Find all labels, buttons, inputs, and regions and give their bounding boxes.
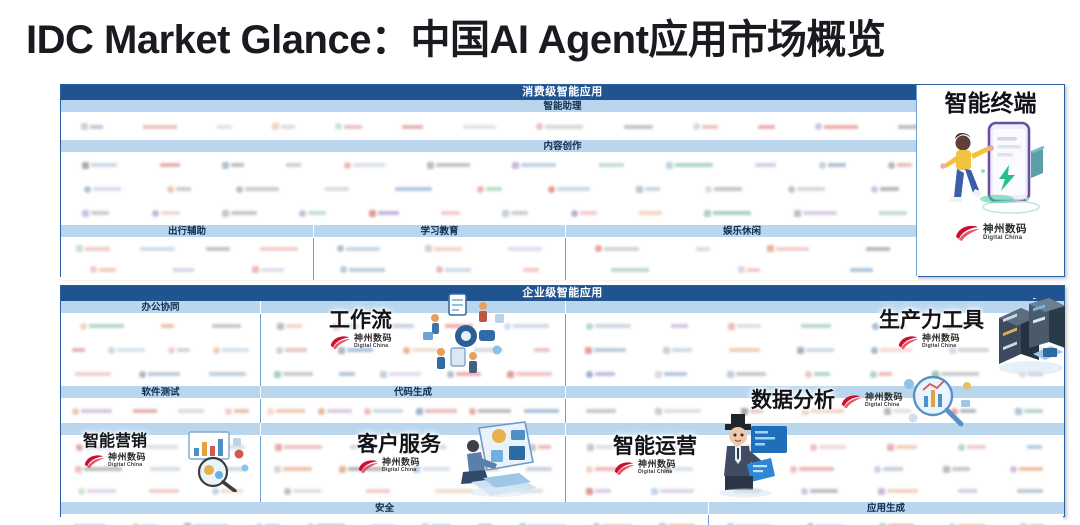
- vendor-logo: [75, 372, 111, 376]
- column-header-education: 学习教育: [314, 225, 566, 238]
- vendor-logo: [666, 445, 693, 449]
- logo-row: [61, 177, 1064, 201]
- column-office-collab: [61, 314, 261, 386]
- vendor-logo: [213, 347, 249, 354]
- vendor-logo: [366, 489, 390, 493]
- vendor-logo: [217, 125, 232, 129]
- vendor-logo: [571, 210, 597, 217]
- column-education: [314, 238, 566, 280]
- vendor-logo: [72, 348, 85, 352]
- vendor-logo: [222, 210, 257, 217]
- vendor-logo: [173, 268, 194, 272]
- column-travel: [61, 238, 314, 280]
- vendor-logo: [526, 467, 552, 471]
- vendor-logo: [160, 163, 180, 167]
- page-title: IDC Market Glance：中国AI Agent应用市场概览: [26, 16, 885, 64]
- vendor-logo: [801, 324, 831, 328]
- vendor-logo: [337, 245, 380, 252]
- vendor-logo: [802, 408, 844, 415]
- vendor-logo: [655, 371, 687, 378]
- column-header-office-collab: 办公协同: [61, 301, 261, 314]
- column-workflow: [261, 314, 566, 386]
- vendor-logo: [344, 162, 385, 169]
- vendor-logo: [445, 324, 473, 328]
- vendor-logo: [276, 347, 307, 354]
- vendor-logo: [75, 466, 122, 473]
- vendor-logo: [364, 408, 403, 415]
- vendor-logo: [636, 186, 660, 193]
- vendor-logo: [595, 245, 639, 252]
- vendor-logo: [728, 323, 761, 330]
- vendor-logo: [734, 489, 761, 493]
- callout-label-smart-terminal: 智能终端: [945, 92, 1037, 115]
- vendor-logo: [529, 444, 551, 451]
- vendor-logo: [727, 371, 766, 378]
- vendor-logo: [819, 162, 846, 169]
- vendor-logo: [850, 268, 873, 272]
- column-software-testing: [61, 399, 261, 423]
- vendor-logo: [870, 371, 892, 378]
- vendor-logo: [587, 444, 625, 451]
- vendor-logo: [946, 323, 974, 330]
- vendor-logo: [149, 489, 179, 493]
- vendor-logo: [416, 408, 457, 415]
- vendor-logo: [958, 489, 977, 493]
- vendor-logo: [133, 409, 157, 413]
- vendor-logo: [139, 371, 180, 378]
- vendor-logo: [810, 444, 846, 451]
- vendor-logo: [477, 467, 499, 471]
- column-header-row1-right: [566, 301, 1063, 314]
- digital-china-swoosh-icon: [954, 223, 980, 242]
- vendor-logo: [167, 186, 191, 193]
- vendor-logo: [651, 488, 694, 495]
- vendor-logo: [335, 123, 362, 130]
- consumer-column-headers: 出行辅助 学习教育 娱乐休闲: [61, 225, 1064, 238]
- vendor-logo: [369, 210, 399, 217]
- vendor-logo: [611, 268, 649, 272]
- vendor-logo: [599, 163, 624, 167]
- vendor-logo: [212, 324, 241, 328]
- vendor-logo: [1027, 445, 1042, 449]
- vendor-logo: [508, 247, 542, 251]
- vendor-logo: [741, 408, 763, 415]
- vendor-logo: [274, 466, 312, 473]
- vendor-logo: [413, 466, 450, 473]
- vendor-logo: [1026, 348, 1045, 352]
- vendor-logo: [504, 323, 549, 330]
- vendor-logo: [84, 186, 121, 193]
- enterprise-section-header: 企业级智能应用: [61, 286, 1064, 301]
- vendor-logo: [872, 323, 906, 330]
- column-customer-service: [261, 436, 566, 502]
- vendor-logo: [284, 488, 321, 495]
- vendor-logo: [274, 371, 313, 378]
- vendor-logo: [267, 408, 305, 415]
- vendor-logo: [729, 348, 760, 352]
- vendor-logo: [82, 162, 117, 169]
- vendor-logo: [178, 409, 204, 413]
- vendor-logo: [463, 125, 496, 129]
- vendor-logo: [340, 266, 385, 273]
- vendor-logo: [932, 371, 979, 378]
- vendor-logo: [788, 186, 825, 193]
- vendor-logo: [477, 186, 502, 193]
- vendor-logo: [144, 445, 178, 449]
- vendor-logo: [108, 347, 145, 354]
- enterprise-row2-body: [61, 399, 1064, 423]
- enterprise-row3-headers: [61, 423, 1064, 436]
- vendor-logo: [1015, 408, 1043, 415]
- vendor-logo: [624, 125, 653, 129]
- vendor-logo: [951, 408, 976, 415]
- vendor-logo: [733, 467, 751, 471]
- column-header-entertainment: 娱乐休闲: [566, 225, 918, 238]
- vendor-logo: [339, 466, 386, 473]
- column-header-row3-mid: [261, 423, 566, 436]
- vendor-logo: [586, 323, 631, 330]
- vendor-logo: [1017, 489, 1043, 493]
- vendor-logo: [150, 467, 180, 471]
- vendor-logo: [507, 371, 552, 378]
- brand-name-cn: 神州数码: [983, 224, 1027, 235]
- vendor-logo: [395, 187, 432, 191]
- consumer-section-panel: 消费级智能应用 智能助理 内容创作 出行辅助 学习教育 娱乐休闲: [60, 84, 1065, 277]
- vendor-logo: [260, 247, 298, 251]
- vendor-logo: [161, 324, 174, 328]
- vendor-logo: [318, 408, 352, 415]
- vendor-logo: [435, 489, 473, 493]
- vendor-logo: [693, 123, 718, 130]
- vendor-logo: [380, 371, 421, 378]
- vendor-logo: [272, 123, 295, 130]
- column-header-code-generation: 代码生成: [261, 386, 566, 399]
- vendor-logo: [888, 162, 912, 169]
- vendor-logo: [206, 247, 230, 251]
- vendor-logo: [78, 488, 116, 495]
- vendor-logo: [755, 163, 776, 167]
- vendor-logo: [338, 347, 373, 354]
- column-app-generation: [709, 515, 1063, 525]
- vendor-logo: [325, 187, 349, 191]
- vendor-logo: [523, 268, 539, 272]
- column-header-app-generation: 应用生成: [709, 502, 1063, 515]
- vendor-logo: [586, 488, 611, 495]
- vendor-logo: [222, 162, 244, 169]
- column-entertainment: [566, 238, 918, 280]
- vendor-logo: [664, 466, 693, 473]
- vendor-logo: [887, 444, 917, 451]
- vendor-logo: [585, 347, 626, 354]
- vendor-logo: [758, 125, 775, 129]
- logo-row: [61, 201, 1064, 225]
- vendor-logo: [469, 408, 511, 415]
- vendor-logo: [1010, 466, 1043, 473]
- column-smart-operations: [566, 436, 1063, 502]
- logo-row: [61, 153, 1064, 177]
- consumer-section-header: 消费级智能应用: [61, 85, 1064, 100]
- vendor-logo: [447, 371, 481, 378]
- vendor-logo: [72, 408, 112, 415]
- vendor-logo: [140, 247, 175, 251]
- column-header-row3-right: [566, 423, 1063, 436]
- vendor-logo: [866, 247, 890, 251]
- vendor-logo: [436, 266, 471, 273]
- vendor-logo: [524, 409, 559, 413]
- vendor-logo: [168, 347, 190, 354]
- column-header-travel: 出行辅助: [61, 225, 314, 238]
- vendor-logo: [696, 247, 710, 251]
- vendor-logo: [403, 347, 443, 354]
- vendor-logo: [790, 466, 834, 473]
- vendor-logo: [871, 186, 899, 193]
- vendor-logo: [143, 125, 177, 129]
- vendor-logo: [236, 186, 279, 193]
- vendor-logo: [404, 444, 446, 451]
- vendor-logo: [475, 445, 501, 449]
- vendor-logo: [402, 125, 423, 129]
- vendor-logo: [738, 266, 760, 273]
- vendor-logo: [225, 408, 249, 415]
- vendor-logo: [212, 488, 243, 495]
- vendor-logo: [518, 489, 543, 493]
- vendor-logo: [339, 372, 355, 376]
- vendor-logo: [275, 444, 322, 451]
- vendor-logo: [671, 324, 688, 328]
- vendor-logo: [871, 347, 912, 354]
- column-security: [61, 515, 709, 525]
- vendor-logo: [884, 408, 911, 415]
- vendor-logo: [734, 444, 769, 451]
- vendor-logo: [655, 408, 701, 415]
- vendor-logo: [536, 123, 583, 130]
- vendor-logo: [958, 444, 986, 451]
- column-header-row3-left: [61, 423, 261, 436]
- vendor-logo: [639, 211, 662, 215]
- subsection-header-content-creation: 内容创作: [61, 140, 1064, 153]
- vendor-logo: [425, 245, 462, 252]
- vendor-logo: [534, 348, 550, 352]
- vendor-logo: [586, 466, 624, 473]
- column-header-row2-right: [566, 386, 1063, 399]
- enterprise-row2-headers: 软件测试 代码生成: [61, 386, 1064, 399]
- digital-china-logo: 神州数码 Digital China: [954, 223, 1027, 242]
- vendor-logo: [209, 466, 246, 473]
- column-productivity: [566, 314, 1063, 386]
- vendor-logo: [874, 466, 903, 473]
- enterprise-row4-body: [61, 515, 1064, 525]
- vendor-logo: [82, 210, 109, 217]
- vendor-logo: [277, 323, 302, 330]
- vendor-logo: [441, 211, 460, 215]
- subsection-header-smart-assistant: 智能助理: [61, 100, 1064, 113]
- vendor-logo: [1019, 371, 1043, 378]
- vendor-logo: [879, 211, 907, 215]
- vendor-logo: [252, 266, 284, 273]
- logo-row: [61, 113, 1064, 140]
- brand-name-en: Digital China: [983, 235, 1027, 241]
- column-code-generation: [261, 399, 566, 423]
- vendor-logo: [705, 186, 742, 193]
- enterprise-row3-body: [61, 436, 1064, 502]
- vendor-logo: [666, 162, 713, 169]
- vendor-logo: [474, 348, 503, 352]
- column-header-software-testing: 软件测试: [61, 386, 261, 399]
- vendor-logo: [1014, 323, 1043, 330]
- vendor-logo: [80, 323, 124, 330]
- vendor-logo: [767, 245, 809, 252]
- vendor-logo: [90, 266, 116, 273]
- vendor-logo: [350, 445, 376, 449]
- vendor-logo: [286, 163, 301, 167]
- vendor-logo: [333, 323, 359, 330]
- vendor-logo: [207, 444, 245, 451]
- column-smart-marketing: [61, 436, 261, 502]
- woman-with-smartphone-ar-illustration: [927, 113, 1055, 221]
- slide-canvas: IDC Market Glance：中国AI Agent应用市场概览 消费级智能…: [0, 0, 1080, 525]
- column-header-row1-mid: [261, 301, 566, 314]
- vendor-logo: [299, 210, 326, 217]
- vendor-logo: [390, 324, 414, 328]
- vendor-logo: [512, 162, 556, 169]
- vendor-logo: [805, 371, 830, 378]
- vendor-logo: [794, 210, 837, 217]
- vendor-logo: [209, 372, 246, 376]
- vendor-logo: [586, 409, 616, 413]
- vendor-logo: [704, 210, 751, 217]
- smart-terminal-callout-card: 智能终端: [916, 85, 1064, 276]
- vendor-logo: [76, 245, 110, 252]
- vendor-logo: [427, 162, 470, 169]
- vendor-logo: [797, 347, 834, 354]
- vendor-logo: [801, 488, 838, 495]
- enterprise-row1-body: [61, 314, 1064, 386]
- vendor-logo: [663, 347, 692, 354]
- vendor-logo: [949, 347, 989, 354]
- vendor-logo: [815, 123, 858, 130]
- enterprise-section-panel: 企业级智能应用 办公协同 软: [60, 285, 1065, 517]
- column-header-security: 安全: [61, 502, 709, 515]
- vendor-logo: [152, 210, 180, 217]
- vendor-logo: [586, 371, 615, 378]
- vendor-logo: [878, 488, 918, 495]
- vendor-logo: [502, 210, 528, 217]
- enterprise-row4-headers: 安全 应用生成: [61, 502, 1064, 515]
- consumer-columns-body: [61, 238, 1064, 280]
- column-data-analysis: [566, 399, 1063, 423]
- vendor-logo: [76, 444, 115, 451]
- enterprise-row1-headers: 办公协同: [61, 301, 1064, 314]
- vendor-logo: [81, 123, 103, 130]
- vendor-logo: [548, 186, 590, 193]
- vendor-logo: [943, 466, 970, 473]
